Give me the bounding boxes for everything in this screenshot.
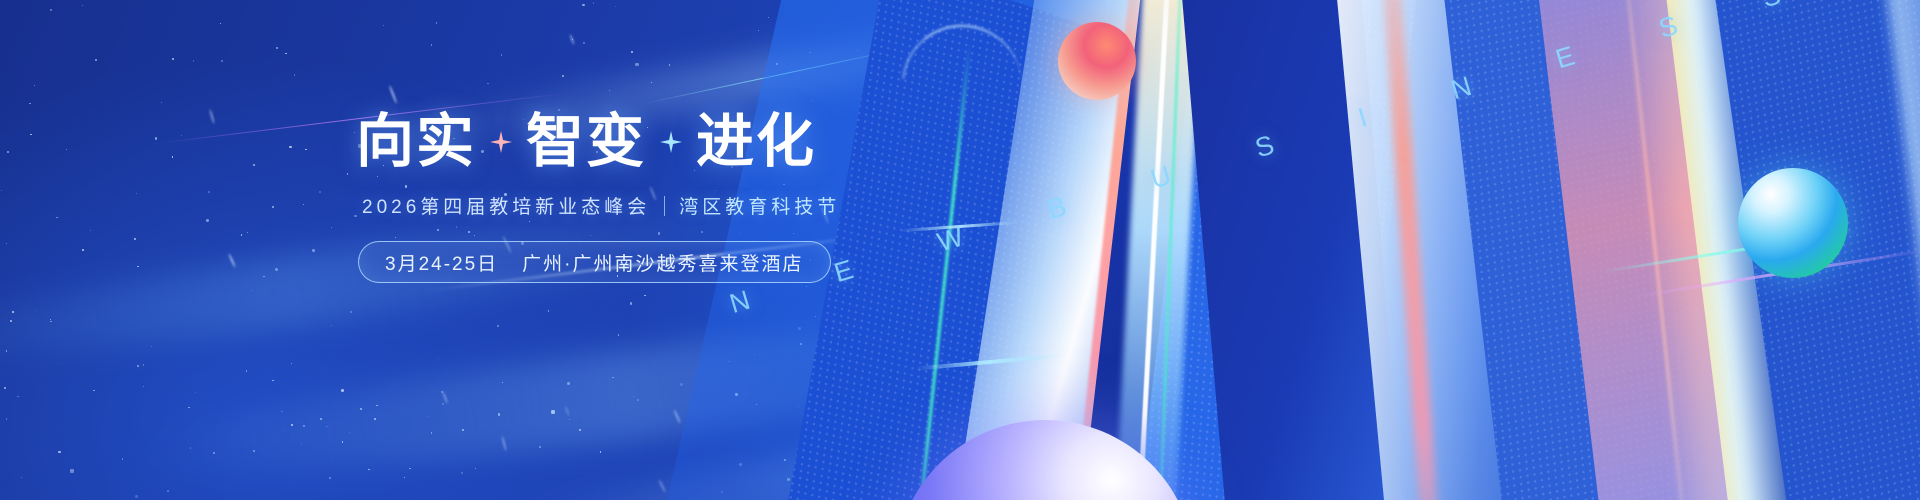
center-light-beam — [1111, 0, 1210, 500]
panel-corner-highlight — [902, 19, 1028, 91]
panel-mesh-8 — [1689, 0, 1920, 500]
panel-edge-green — [912, 41, 971, 500]
copy-block: 向实 智变 进化 2026第四届教培新业态峰会 湾区教育科技节 3月24-25日… — [356, 108, 916, 283]
streak-cyan-1 — [643, 41, 937, 104]
event-info-pill[interactable]: 3月24-25日 广州·广州南沙越秀喜来登酒店 — [358, 241, 831, 283]
subtitle-left: 2026第四届教培新业态峰会 — [362, 192, 650, 219]
mesh-streak-3 — [1601, 230, 1858, 274]
streak-magenta-2 — [883, 393, 1307, 470]
mesh-streak-4 — [1632, 249, 1920, 299]
sparkle-diamond-pink-icon — [490, 131, 512, 153]
subtitle: 2026第四届教培新业态峰会 湾区教育科技节 — [362, 192, 916, 219]
panel-mesh-pink — [1517, 0, 1742, 500]
headline-word-3: 进化 — [696, 113, 816, 171]
center-beam-green-line — [1156, 0, 1186, 500]
center-beam-core — [1133, 0, 1177, 500]
mesh-streak-1 — [900, 221, 1020, 232]
panel-mesh-7 — [1427, 0, 1753, 500]
mesh-streak-2 — [915, 353, 1065, 370]
subtitle-divider — [664, 196, 665, 216]
streak-cyan-2 — [841, 300, 1099, 338]
panel-dark-5 — [1171, 0, 1410, 500]
warm-beam-core — [1607, 0, 1697, 500]
warm-light-beam — [1602, 0, 1807, 500]
event-date: 3月24-25日 — [385, 249, 498, 276]
headline-word-1: 向实 — [356, 113, 476, 171]
page-title: 向实 智变 进化 — [356, 108, 916, 176]
panel-light-6 — [1324, 0, 1557, 500]
teal-sphere — [1738, 168, 1848, 278]
headline-word-2: 智变 — [526, 113, 646, 171]
panel-right-edge-glow — [1862, 0, 1920, 500]
light-sweep-2 — [138, 291, 1122, 500]
panel-mesh-4 — [1131, 0, 1429, 500]
panel-dark-3 — [1075, 0, 1324, 500]
panel-light-2 — [953, 0, 1207, 500]
starfield — [0, 0, 1920, 500]
sparkle-diamond-cyan-icon — [660, 131, 682, 153]
subtitle-right: 湾区教育科技节 — [679, 192, 840, 219]
red-sphere — [1058, 22, 1136, 100]
light-sweep-4 — [499, 381, 1261, 500]
panel-edge-salmon-1 — [1071, 0, 1154, 500]
panel-edge-salmon-2 — [1373, 0, 1445, 500]
event-venue: 广州·广州南沙越秀喜来登酒店 — [522, 249, 803, 276]
event-banner: N E W B U S I N E S S F O R M S 向实 智变 进化… — [0, 0, 1920, 500]
violet-sphere — [895, 420, 1195, 500]
